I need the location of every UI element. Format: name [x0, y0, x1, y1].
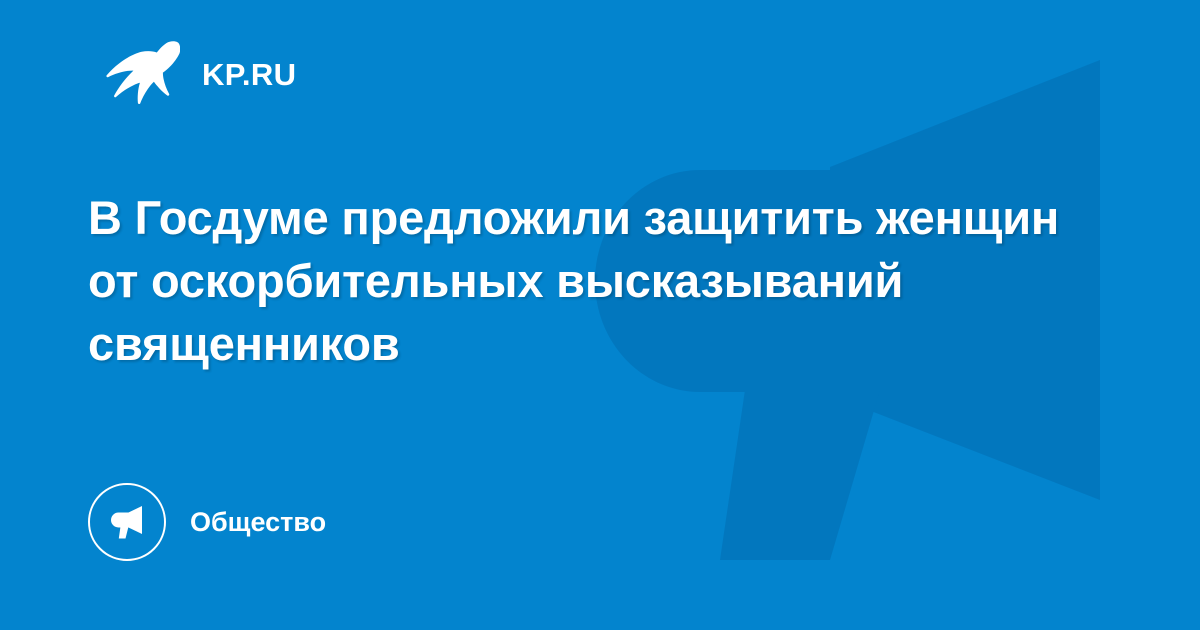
swallow-bird-icon	[106, 38, 180, 110]
megaphone-icon	[106, 501, 148, 543]
category-badge[interactable]: Общество	[88, 483, 326, 561]
brand-name: KP.RU	[202, 59, 296, 90]
social-share-card: KP.RU В Госдуме предложили защитить женщ…	[0, 0, 1200, 630]
page-title: В Госдуме предложили защитить женщин от …	[88, 186, 1088, 375]
category-label: Общество	[190, 509, 326, 536]
site-logo[interactable]: KP.RU	[106, 36, 296, 112]
category-icon-circle	[88, 483, 166, 561]
